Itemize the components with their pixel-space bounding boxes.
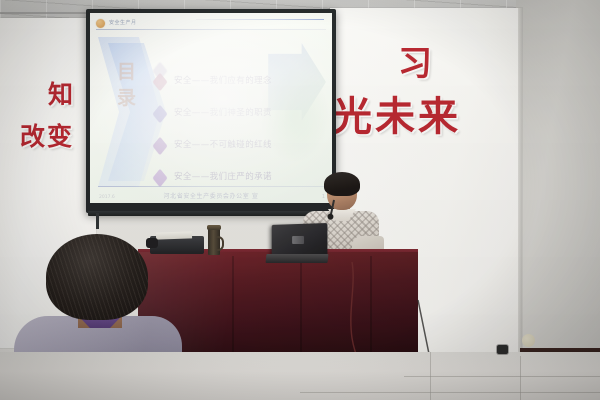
wall-text-left-bottom: 改变 [20,124,74,149]
slide-bullet-item: 安全——我们神圣的职责 [154,105,318,129]
slide-footer-rule [98,186,324,187]
panel-edge [518,8,522,356]
presenter-hair [324,172,360,196]
slide-bullet-item: 安全——我们庄严的承诺 [154,169,318,193]
slide-footer-text: 河北省安全生产委员会办公室 宣 [90,191,332,200]
wall-text-left-top: 知 [48,82,73,107]
header-rule [96,29,326,30]
slide-bullet-item: 安全——我们应有的理念 [154,73,318,97]
laptop-logo-icon [292,236,304,244]
thermos-cup [208,228,220,255]
slide-bullet-list: 安全——我们应有的理念 安全——我们神圣的职责 安全——不可触碰的红线 安全——… [154,51,318,201]
table-object-dark [146,238,158,248]
projection-screen: 安全生产月 目录 安全——我们应有的理念 安全——我们神圣的职责 [86,9,336,213]
wall-text-right-bottom: 光未来 [332,97,461,137]
right-wall-recess [516,0,600,352]
bullet-marker-icon [152,137,167,156]
header-rule-accent [196,19,324,20]
slide-surface: 安全生产月 目录 安全——我们应有的理念 安全——我们神圣的职责 [90,13,332,203]
laptop-base [266,254,329,263]
slide-header-title: 安全生产月 [109,19,137,26]
bullet-marker-icon [152,169,167,188]
photo-scene: 知 改变 习 光未来 安全生产月 目录 安全——我们应有的理念 [0,0,600,400]
bullet-label: 安全——我们应有的理念 [174,74,272,88]
wall-text-right-top: 习 [398,47,432,81]
slide-toc-word: 目录 [112,59,142,111]
bullet-label: 安全——我们神圣的职责 [174,106,272,120]
bullet-marker-icon [152,105,167,124]
power-outlet[interactable] [497,345,508,354]
slide-page-number: 1 [322,194,325,200]
audience-hair-texture [46,234,148,320]
bullet-marker-icon [152,73,167,92]
wall-plate-icon [522,334,535,347]
papers [156,231,192,239]
bullet-label: 安全——我们庄严的承诺 [174,170,272,184]
slide-header: 安全生产月 [96,17,326,33]
laptop-lid [272,223,328,258]
bullet-label: 安全——不可触碰的红线 [174,138,272,152]
emblem-icon [96,19,105,28]
slide-bullet-item: 安全——不可触碰的红线 [154,137,318,161]
